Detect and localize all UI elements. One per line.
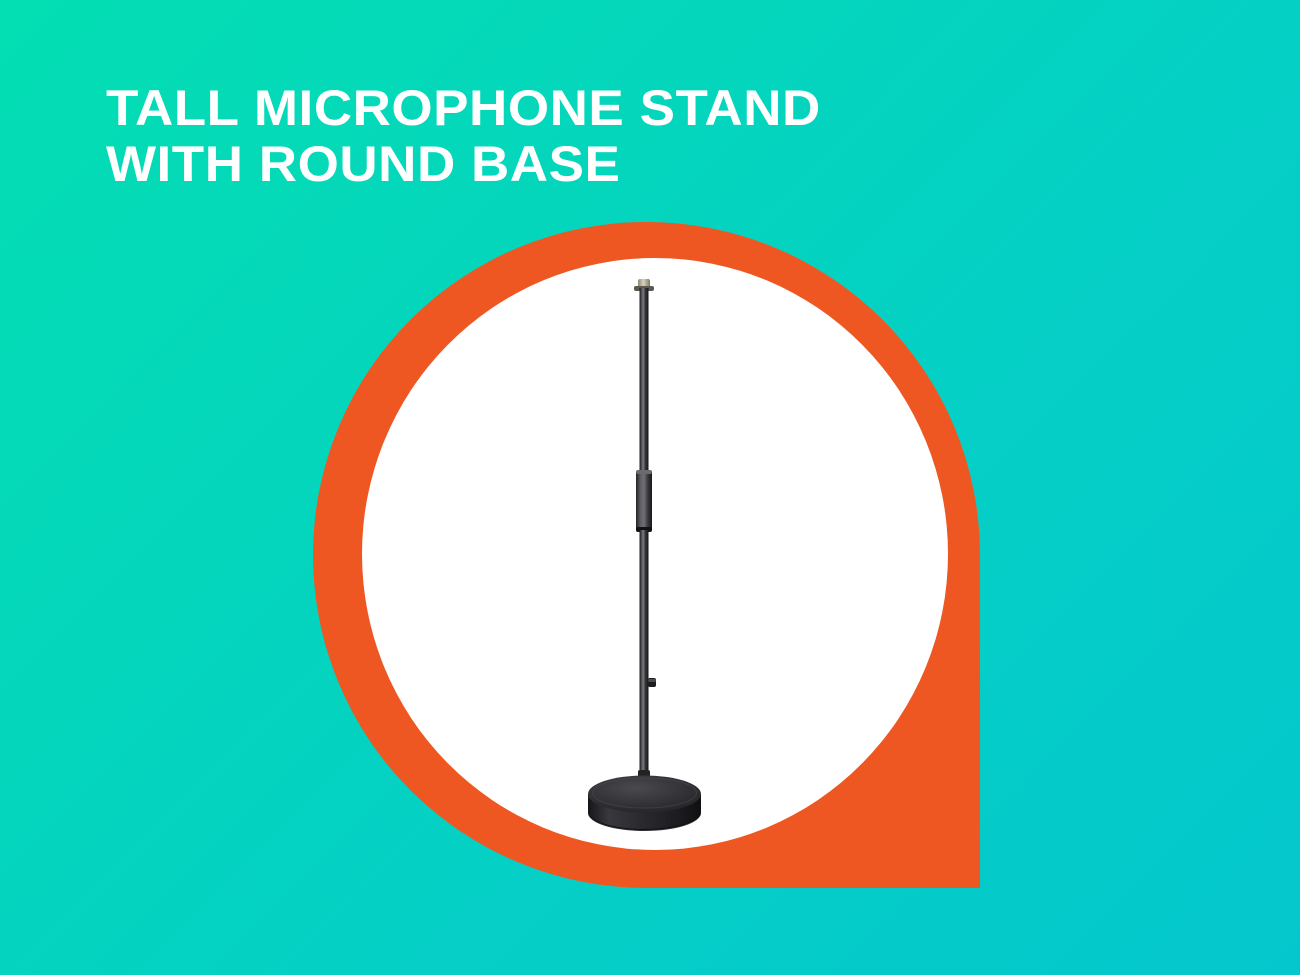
product-graphic (313, 222, 980, 888)
promo-canvas: TALL MICROPHONE STAND WITH ROUND BASE (0, 0, 1300, 975)
white-circle-backdrop (362, 258, 948, 850)
page-title: TALL MICROPHONE STAND WITH ROUND BASE (106, 80, 975, 192)
